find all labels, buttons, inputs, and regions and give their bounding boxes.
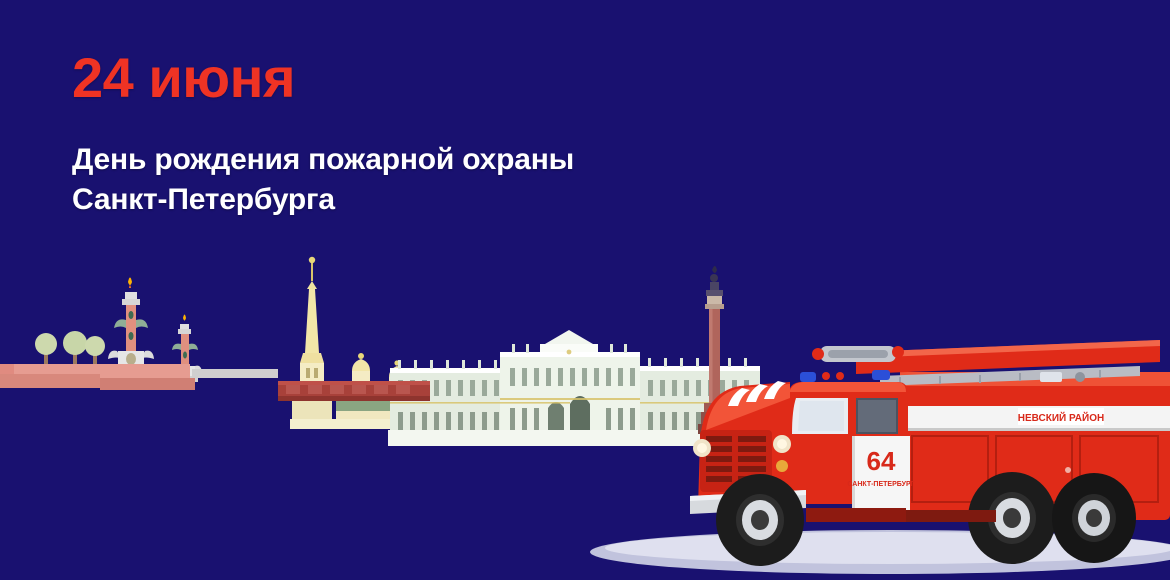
- subtitle-line-1: День рождения пожарной охраны: [72, 140, 712, 180]
- door-number: 64: [867, 446, 896, 476]
- page-title: 24 июня: [72, 50, 712, 106]
- wheel-front: [716, 474, 804, 566]
- body-text: НЕВСКИЙ РАЙОН: [1018, 411, 1104, 424]
- text-block: 24 июня День рождения пожарной охраны Са…: [72, 50, 712, 220]
- wheel-rear-2: [1052, 473, 1136, 563]
- fire-truck: НЕВСКИЙ РАЙОН: [0, 280, 1170, 580]
- banner-root: НЕВСКИЙ РАЙОН: [0, 0, 1170, 580]
- subtitle-line-2: Санкт-Петербурга: [72, 180, 712, 220]
- siren-speaker-icon: [812, 346, 904, 362]
- door-subtext: САНКТ-ПЕТЕРБУРГ: [847, 481, 914, 488]
- turn-signal-icon: [776, 460, 788, 472]
